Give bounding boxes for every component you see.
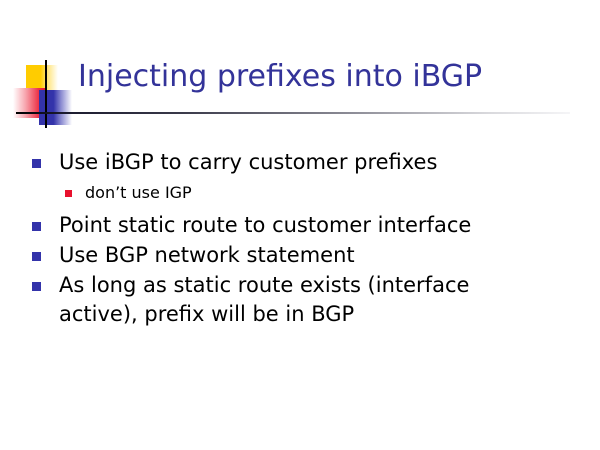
list-item-label: Point static route to customer interface [59,211,471,240]
list-item: As long as static route exists (interfac… [0,271,600,329]
square-bullet-navy-icon [32,222,41,231]
square-bullet-navy-icon [32,282,41,291]
list-item: Use iBGP to carry customer prefixes [0,148,600,177]
page-title: Injecting prefixes into iBGP [78,58,578,96]
list-item-label: don’t use IGP [85,182,192,204]
list-item-label: Use BGP network statement [59,241,355,270]
title-underline-rule [16,112,570,114]
square-bullet-navy-icon [32,159,41,168]
list-item-label: As long as static route exists (interfac… [59,271,544,329]
decoration-blue-square-icon [39,90,72,125]
decoration-vertical-line-icon [45,60,47,128]
square-bullet-navy-icon [32,252,41,261]
list-item: don’t use IGP [0,182,600,204]
slide-body-content: Use iBGP to carry customer prefixes don’… [0,148,600,330]
list-item: Point static route to customer interface [0,211,600,240]
square-bullet-red-icon [65,190,72,197]
list-item-label: Use iBGP to carry customer prefixes [59,148,437,177]
presentation-slide: Injecting prefixes into iBGP Use iBGP to… [0,0,600,450]
slide-title-block: Injecting prefixes into iBGP [0,58,600,138]
list-item: Use BGP network statement [0,241,600,270]
